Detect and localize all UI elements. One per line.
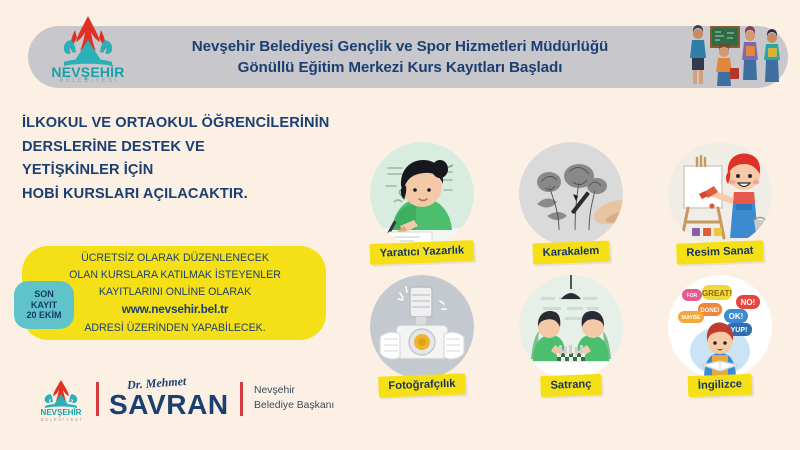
easel-painter-illustration [668, 142, 772, 246]
mayor-role-block: Nevşehir Belediye Başkanı [254, 384, 364, 414]
deadline-badge-line2: KAYIT [31, 300, 57, 311]
registration-url[interactable]: www.nevsehir.bel.tr [122, 301, 229, 319]
headline-line-3: YETİŞKİNLER İÇİN [22, 159, 362, 183]
deadline-badge-line1: SON [34, 289, 54, 300]
svg-text:NO!: NO! [740, 298, 755, 307]
svg-text:GREAT!: GREAT! [702, 289, 732, 298]
svg-text:DONE!: DONE! [700, 308, 719, 314]
mayor-name-block: Dr. Mehmet SAVRAN [95, 378, 275, 426]
footer-logo-icon [34, 378, 88, 412]
footer-logo-name: NEVŞEHİR [34, 408, 88, 417]
course-label: Fotoğrafçılık [378, 373, 466, 397]
info-line-3: KAYITLARINI ONLİNE OLARAK [99, 284, 251, 300]
course-label: Karakalem [532, 241, 609, 265]
students-icon [688, 16, 784, 92]
svg-text:FOR: FOR [686, 293, 697, 299]
poster-canvas: NEVŞEHİR B E L E D İ Y E S İ Nevşehir Be… [0, 0, 800, 450]
svg-text:MAYBE: MAYBE [681, 315, 700, 321]
pencil-sketch-photo [519, 142, 623, 246]
headline-line-1: İLKOKUL VE ORTAOKUL ÖĞRENCİLERİNİN [22, 112, 362, 136]
footer-municipality-logo: NEVŞEHİR B E L E D İ Y E S İ [34, 378, 88, 426]
course-label: İngilizce [687, 374, 752, 397]
mayor-role-line2: Belediye Başkanı [254, 399, 364, 414]
course-label: Yaratıcı Yazarlık [370, 240, 475, 265]
course-card-yaratici-yazarlik[interactable]: Yaratıcı Yazarlık [352, 140, 493, 269]
deadline-badge: SON KAYIT 20 EKİM [14, 281, 74, 329]
course-card-satranc[interactable]: Satranç [501, 273, 642, 402]
students-illustration [688, 16, 784, 92]
header-title-line2: Gönüllü Eğitim Merkezi Kurs Kayıtları Ba… [238, 58, 563, 77]
headline-line-4: HOBİ KURSLARI AÇILACAKTIR. [22, 183, 362, 207]
course-label: Resim Sanat [676, 240, 764, 264]
svg-text:YUP!: YUP! [730, 327, 747, 334]
header-title: Nevşehir Belediyesi Gençlik ve Spor Hizm… [120, 28, 680, 86]
info-line-1: ÜCRETSİZ OLARAK DÜZENLENECEK [81, 250, 269, 266]
footer-divider-right [240, 382, 243, 416]
course-card-resim-sanat[interactable]: Resim Sanat [649, 140, 790, 269]
speech-bubbles-kid-illustration: FOR GREAT! NO! DONE! MAYBE OK! YUP! [668, 275, 772, 379]
mayor-role-line1: Nevşehir [254, 384, 364, 399]
camera-hands-illustration [370, 275, 474, 379]
course-label: Satranç [540, 374, 602, 397]
headline-block: İLKOKUL VE ORTAOKUL ÖĞRENCİLERİNİN DERSL… [22, 112, 362, 207]
info-line-last: ADRESİ ÜZERİNDEN YAPABİLECEK. [84, 320, 265, 336]
course-card-karakalem[interactable]: Karakalem [501, 140, 642, 269]
chess-players-illustration [519, 275, 623, 379]
deadline-badge-line3: 20 EKİM [26, 310, 61, 321]
info-line-2: OLAN KURSLARA KATILMAK İSTEYENLER [69, 267, 281, 283]
header-title-line1: Nevşehir Belediyesi Gençlik ve Spor Hizm… [192, 37, 608, 56]
headline-line-2: DERSLERİNE DESTEK VE [22, 136, 362, 160]
footer-logo-sub: B E L E D İ Y E S İ [34, 417, 88, 422]
course-card-ingilizce[interactable]: FOR GREAT! NO! DONE! MAYBE OK! YUP! [649, 273, 790, 402]
course-card-grid: Yaratıcı Yazarlık [352, 140, 790, 402]
mayor-surname: SAVRAN [109, 389, 229, 421]
svg-text:OK!: OK! [728, 312, 743, 321]
writing-girl-illustration [370, 142, 474, 246]
course-card-fotografcilik[interactable]: Fotoğrafçılık [352, 273, 493, 402]
